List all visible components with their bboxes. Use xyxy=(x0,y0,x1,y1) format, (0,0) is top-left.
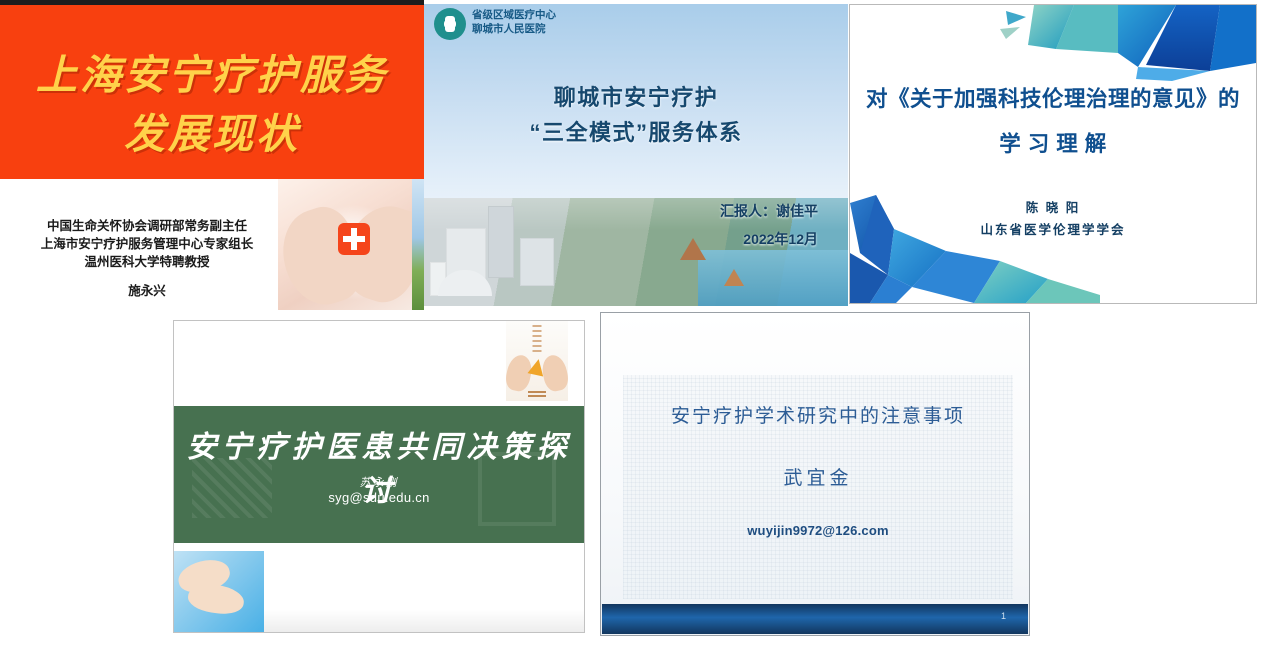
slide1-title-line2: 发展现状 xyxy=(0,100,424,160)
pagoda-2 xyxy=(724,269,744,286)
slide1-credit-line2: 上海市安宁疗护服务管理中心专家组长 xyxy=(22,235,272,253)
hand-right-shape xyxy=(540,353,571,393)
slide-liaocheng-hospice[interactable]: 省级区域医疗中心 聊城市人民医院 聊城市安宁疗护 “三全模式”服务体系 汇报人：… xyxy=(424,4,848,306)
hand-shape-lower xyxy=(186,581,245,617)
slide1-title-band: 上海安宁疗护服务 发展现状 xyxy=(0,5,424,179)
slide1-lower-area: 中国生命关怀协会调研部常务副主任 上海市安宁疗护服务管理中心专家组长 温州医科大… xyxy=(0,179,424,310)
building-2 xyxy=(488,206,514,278)
slide-shared-decision-making[interactable]: 安宁疗护医患共同决策探讨 苏永刚 syg@sdu.edu.cn xyxy=(173,320,585,633)
slide1-credit-line3: 温州医科大学特聘教授 xyxy=(22,253,272,271)
slide3-title-line1: 对《关于加强科技伦理治理的意见》的 xyxy=(850,77,1256,122)
decorative-dots xyxy=(533,325,542,355)
slide5-presenter: 武宜金 xyxy=(623,463,1013,490)
slide4-blank-area xyxy=(264,551,584,632)
hospital-logo-text: 省级区域医疗中心 聊城市人民医院 xyxy=(472,8,556,36)
caregiver-hands-image xyxy=(174,551,264,632)
slide2-meta: 汇报人：谢佳平 2022年12月 xyxy=(720,197,818,253)
slide3-title: 对《关于加强科技伦理治理的意见》的 学 习 理 解 xyxy=(850,77,1256,167)
hospital-logo-icon xyxy=(434,8,466,40)
slide5-footer-bar: 1 xyxy=(602,604,1028,634)
polygon-decoration-bottom-icon xyxy=(850,183,1100,303)
slide4-presenter: 苏永刚 xyxy=(174,474,584,490)
polygon-decoration-top-icon xyxy=(986,5,1256,81)
slide5-page-number: 1 xyxy=(1001,611,1006,621)
slide-shanghai-hospice[interactable]: 上海安宁疗护服务 发展现状 中国生命关怀协会调研部常务副主任 上海市安宁疗护服务… xyxy=(0,0,424,310)
heart-hands-image xyxy=(278,179,424,310)
slide-research-notes[interactable]: 安宁疗护学术研究中的注意事项 武宜金 wuyijin9972@126.com 1 xyxy=(600,312,1030,636)
hands-with-leaf-image xyxy=(506,321,568,401)
slide3-title-line2: 学 习 理 解 xyxy=(850,122,1256,167)
slide1-title-line1: 上海安宁疗护服务 xyxy=(0,41,424,101)
slide2-date: 2022年12月 xyxy=(720,225,818,253)
slide-thumbnail-grid: 上海安宁疗护服务 发展现状 中国生命关怀协会调研部常务副主任 上海市安宁疗护服务… xyxy=(0,0,1268,646)
slide2-title: 聊城市安宁疗护 “三全模式”服务体系 xyxy=(424,80,848,150)
slide4-email: syg@sdu.edu.cn xyxy=(174,490,584,505)
slide2-title-line2: “三全模式”服务体系 xyxy=(424,115,848,150)
building-3 xyxy=(520,238,554,286)
slide5-title: 安宁疗护学术研究中的注意事项 xyxy=(623,401,1013,428)
leaf-icon xyxy=(528,358,547,377)
slide4-title-band: 安宁疗护医患共同决策探讨 苏永刚 syg@sdu.edu.cn xyxy=(174,406,584,543)
logo-line2: 聊城市人民医院 xyxy=(472,22,556,36)
slide2-presenter: 汇报人：谢佳平 xyxy=(720,197,818,225)
slide1-credit-line1: 中国生命关怀协会调研部常务副主任 xyxy=(22,217,272,235)
slide2-title-line1: 聊城市安宁疗护 xyxy=(424,80,848,115)
medical-cross-icon xyxy=(338,223,370,255)
slide5-content-panel: 安宁疗护学术研究中的注意事项 武宜金 wuyijin9972@126.com xyxy=(623,375,1013,599)
river-area xyxy=(698,250,848,306)
slide-sci-tech-ethics[interactable]: 对《关于加强科技伦理治理的意见》的 学 习 理 解 陈 晓 阳 山东省医学伦理学… xyxy=(849,4,1257,304)
pagoda-1 xyxy=(680,238,706,260)
logo-line1: 省级区域医疗中心 xyxy=(472,8,556,22)
slide1-edge-strip xyxy=(412,179,424,310)
slide1-presenter: 施永兴 xyxy=(22,282,272,300)
slide1-credits: 中国生命关怀协会调研部常务副主任 上海市安宁疗护服务管理中心专家组长 温州医科大… xyxy=(22,217,272,300)
slide5-email: wuyijin9972@126.com xyxy=(623,523,1013,538)
decorative-footer-marks xyxy=(528,391,546,399)
